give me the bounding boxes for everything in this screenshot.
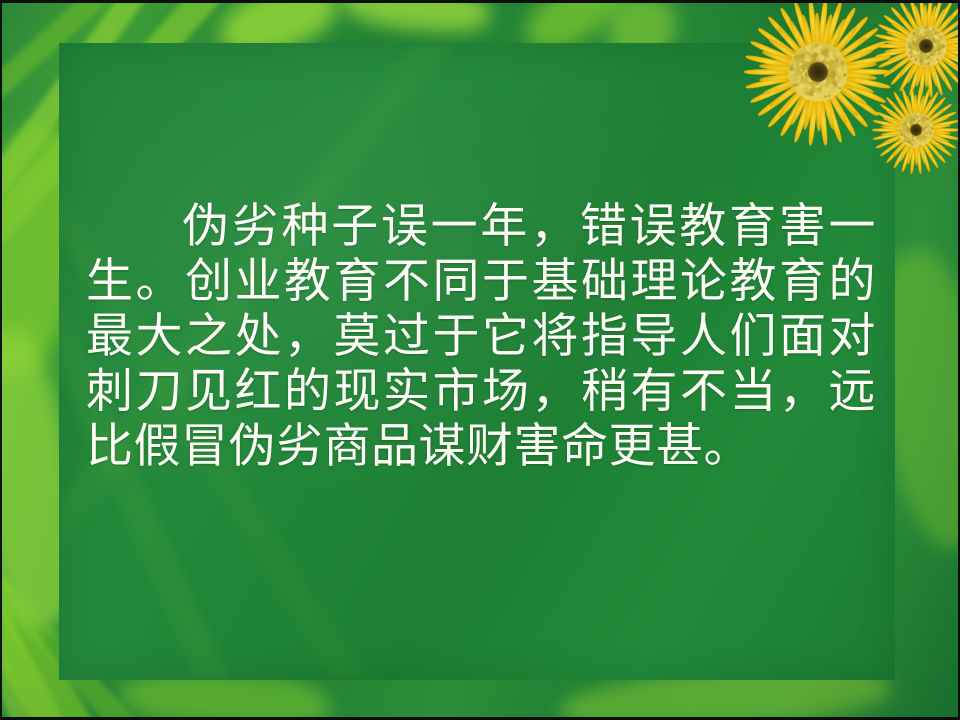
slide-canvas: 伪劣种子误一年，错误教育害一生。创业教育不同于基础理论教育的最大之处，莫过于它将… [0,0,960,720]
slide-body-text: 伪劣种子误一年，错误教育害一生。创业教育不同于基础理论教育的最大之处，莫过于它将… [86,200,876,475]
